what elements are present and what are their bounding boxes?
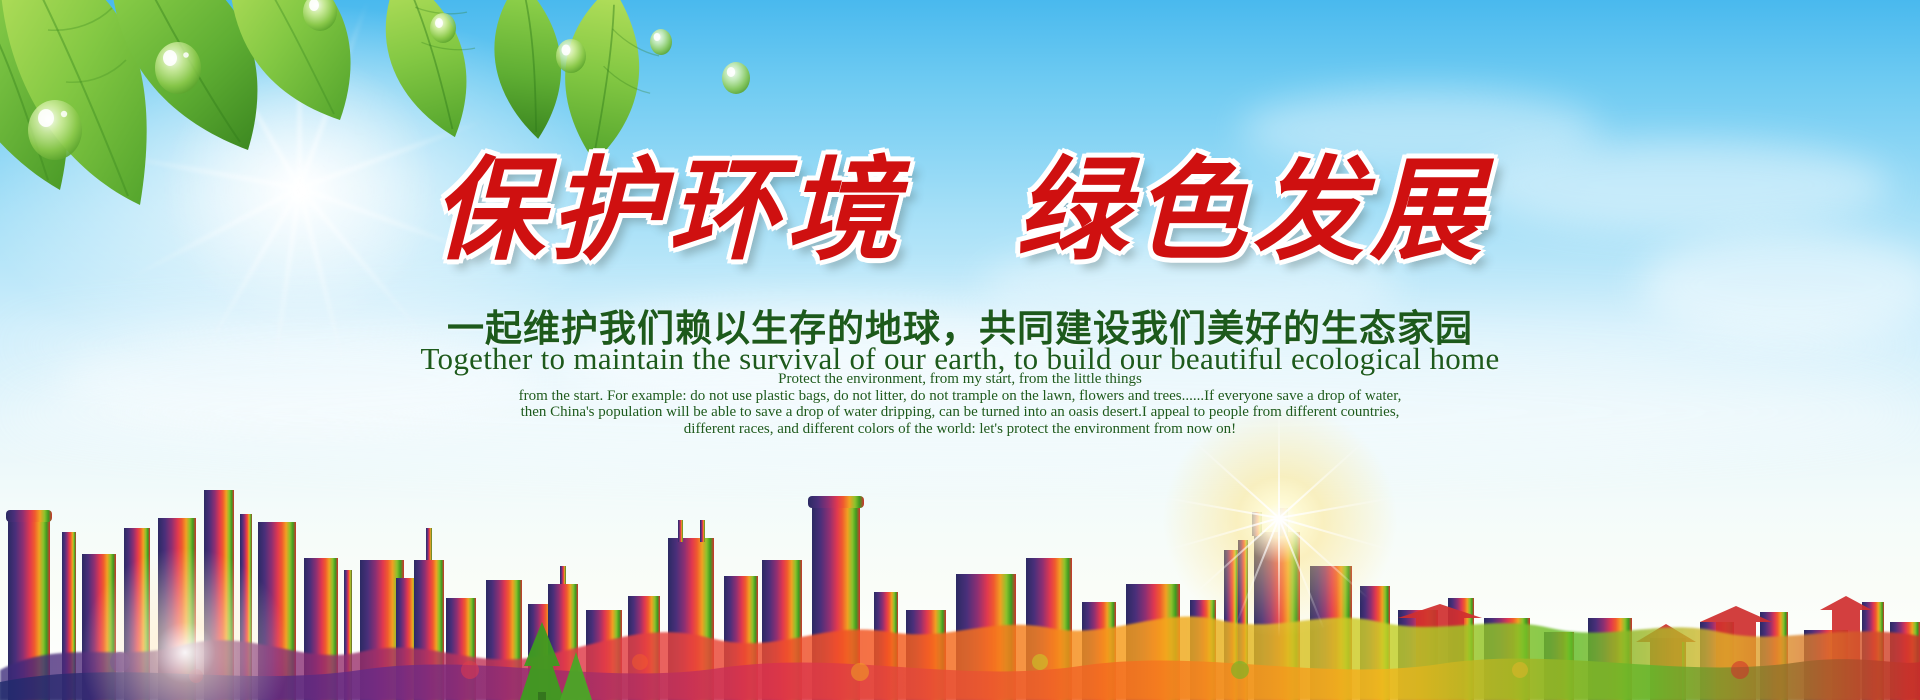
paragraph-line-2: from the start. For example: do not use … [0, 388, 1920, 405]
water-drop-icon [430, 13, 456, 43]
environment-banner: 保护环境 绿色发展 一起维护我们赖以生存的地球，共同建设我们美好的生态家园 To… [0, 0, 1920, 700]
description-paragraph: Protect the environment, from my start, … [0, 371, 1920, 437]
page-title: 保护环境 绿色发展 [0, 150, 1920, 275]
paragraph-line-4: different races, and different colors of… [0, 421, 1920, 438]
title-part-2: 绿色发展 [1016, 150, 1488, 274]
title-part-1: 保护环境 [432, 150, 904, 274]
paragraph-line-3: then China's population will be able to … [0, 404, 1920, 421]
water-drop-icon [722, 62, 750, 94]
paragraph-line-1: Protect the environment, from my start, … [0, 371, 1920, 388]
water-drop-icon [556, 39, 586, 73]
water-drop-icon [650, 29, 672, 55]
sun-glow-left-icon [20, 510, 350, 700]
water-drop-icon [155, 42, 201, 94]
